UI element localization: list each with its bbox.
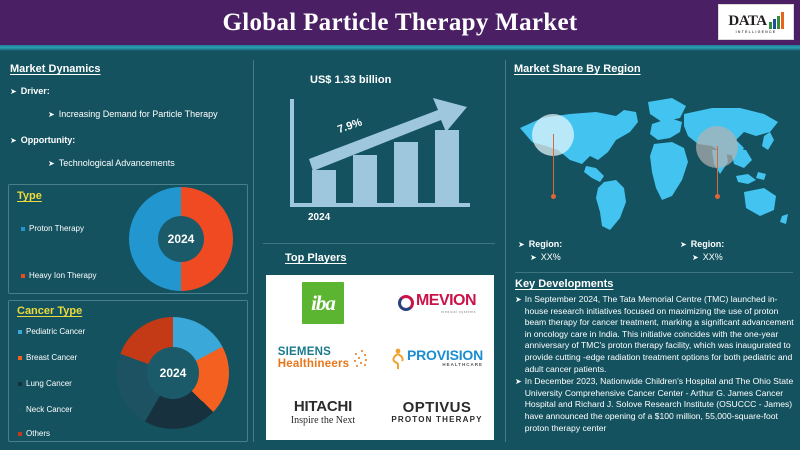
divider-chart-players (263, 243, 495, 244)
region-label-1: Region: (691, 238, 725, 251)
chart-x-label: 2024 (308, 212, 330, 223)
arrow-bullet-icon: ➤ (515, 294, 522, 306)
market-dynamics-section: Market Dynamics ➤ Driver: ➤ Increasing D… (10, 63, 248, 170)
logo-siemens-healthineers[interactable]: SIEMENS Healthineers (266, 330, 380, 385)
arrow-bullet-icon: ➤ (10, 85, 17, 98)
logo-siemens-sub: Healthineers (278, 358, 349, 370)
logo-hitachi-sub: Inspire the Next (291, 415, 355, 427)
map-pin-dot-north-america (551, 194, 556, 199)
legend-swatch-icon (21, 227, 25, 231)
driver-label: Driver: (21, 85, 50, 98)
arrow-bullet-icon: ➤ (10, 134, 17, 147)
top-players-logo-grid: iba MEVION medical systems SIEMENS Healt… (266, 275, 494, 440)
region-label-row-0: ➤ Region: (518, 238, 562, 251)
opportunity-label-row: ➤ Opportunity: (10, 134, 248, 147)
brand-logo: DATA INTELLIGENCE (718, 4, 794, 40)
logo-optivus-sub: PROTON THERAPY (391, 415, 482, 425)
chart-bar-0 (312, 170, 336, 203)
cancer-legend-item-3: Neck Cancer (18, 405, 72, 414)
driver-value: Increasing Demand for Particle Therapy (59, 108, 218, 121)
region-value-row-1: ➤ XX% (680, 251, 724, 264)
divider-center-right (505, 60, 506, 442)
iba-logo-tile: iba (302, 282, 344, 324)
cancer-type-heading: Cancer Type (17, 305, 82, 317)
opportunity-value-row: ➤ Technological Advancements (48, 157, 248, 170)
cancer-legend-item-2: Lung Cancer (18, 379, 72, 388)
cancer-legend-label-0: Pediatric Cancer (26, 327, 85, 336)
driver-value-row: ➤ Increasing Demand for Particle Therapy (48, 108, 248, 121)
opportunity-label: Opportunity: (21, 134, 76, 147)
market-share-heading: Market Share By Region (514, 63, 794, 75)
logo-optivus[interactable]: OPTIVUS PROTON THERAPY (380, 385, 494, 440)
cancer-type-donut-year: 2024 (160, 366, 187, 380)
legend-swatch-icon (18, 408, 22, 412)
type-donut-center: 2024 (158, 216, 204, 262)
siemens-dots-icon (352, 349, 368, 367)
world-map-icon (512, 88, 796, 238)
type-legend-label-1: Heavy Ion Therapy (29, 271, 96, 280)
logo-optivus-text: OPTIVUS (391, 400, 482, 415)
logo-mevion[interactable]: MEVION medical systems (380, 275, 494, 330)
arrow-bullet-icon: ➤ (518, 238, 525, 251)
key-development-text-0: In September 2024, The Tata Memorial Cen… (525, 294, 798, 375)
market-dynamics-heading: Market Dynamics (10, 63, 248, 75)
region-callout-1: ➤ Region: ➤ XX% (680, 238, 724, 264)
driver-label-row: ➤ Driver: (10, 85, 248, 98)
chart-bar-3 (435, 130, 459, 203)
arrow-bullet-icon: ➤ (680, 238, 687, 251)
chart-bar-1 (353, 155, 377, 203)
top-players-section: Top Players (263, 252, 498, 264)
legend-swatch-icon (18, 356, 22, 360)
map-pin-line-north-america (553, 134, 554, 196)
logo-iba[interactable]: iba (266, 275, 380, 330)
legend-swatch-icon (18, 382, 22, 386)
type-legend-label-0: Proton Therapy (29, 224, 84, 233)
region-label-row-1: ➤ Region: (680, 238, 724, 251)
key-developments-heading: Key Developments (515, 278, 798, 290)
logo-hitachi[interactable]: HITACHI Inspire the Next (266, 385, 380, 440)
type-heading: Type (17, 190, 42, 202)
legend-swatch-icon (21, 274, 25, 278)
legend-swatch-icon (18, 432, 22, 436)
arrow-bullet-icon: ➤ (515, 376, 522, 388)
bar-chart-icon (769, 12, 784, 29)
region-value-row-0: ➤ XX% (518, 251, 562, 264)
type-panel: Type Proton Therapy Heavy Ion Therapy 20… (8, 184, 248, 294)
growth-chart-value-label: US$ 1.33 billion (310, 74, 391, 86)
chart-cagr-label: 7.9% (336, 116, 364, 136)
growth-arrow-icon (258, 62, 498, 242)
world-map (512, 88, 796, 238)
region-value-0: XX% (541, 251, 561, 264)
cancer-legend-item-1: Breast Cancer (18, 353, 77, 362)
growth-chart-section: US$ 1.33 billion 7.9% 2024 (258, 62, 498, 242)
chart-y-axis (290, 99, 294, 207)
opportunity-value: Technological Advancements (59, 157, 175, 170)
key-developments-section: Key Developments ➤ In September 2024, Th… (515, 278, 798, 435)
key-development-text-1: In December 2023, Nationwide Children's … (525, 376, 798, 434)
region-value-1: XX% (703, 251, 723, 264)
type-legend-item-0: Proton Therapy (21, 224, 84, 233)
map-pin-line-asia (717, 146, 718, 196)
chart-x-axis (290, 203, 470, 207)
cancer-legend-label-1: Breast Cancer (26, 353, 77, 362)
logo-iba-text: iba (311, 293, 335, 313)
header-bar: Global Particle Therapy Market (0, 0, 800, 45)
divider-left-center (253, 60, 254, 442)
cancer-type-donut-center: 2024 (147, 347, 199, 399)
brand-logo-subtitle: INTELLIGENCE (736, 30, 777, 34)
key-development-item-1: ➤ In December 2023, Nationwide Children'… (515, 376, 798, 434)
arrow-bullet-icon: ➤ (692, 251, 699, 264)
region-callout-0: ➤ Region: ➤ XX% (518, 238, 562, 264)
logo-mevion-sub: medical systems (416, 310, 476, 314)
mevion-swirl-icon (398, 295, 414, 311)
logo-hitachi-text: HITACHI (291, 399, 355, 415)
cancer-legend-label-2: Lung Cancer (26, 379, 72, 388)
arrow-bullet-icon: ➤ (48, 157, 55, 170)
chart-bar-2 (394, 142, 418, 203)
cancer-legend-label-3: Neck Cancer (26, 405, 72, 414)
header-accent-strip (0, 45, 800, 51)
region-label-0: Region: (529, 238, 563, 251)
map-pin-dot-asia (715, 194, 720, 199)
market-share-section: Market Share By Region (514, 63, 794, 75)
divider-map-keydev (515, 272, 793, 273)
type-legend-item-1: Heavy Ion Therapy (21, 271, 96, 280)
type-donut-year: 2024 (168, 232, 195, 246)
infographic-page: Global Particle Therapy Market DATA INTE… (0, 0, 800, 450)
cancer-type-panel: Cancer Type Pediatric Cancer Breast Canc… (8, 300, 248, 442)
cancer-legend-item-4: Others (18, 429, 50, 438)
top-players-heading: Top Players (285, 252, 498, 264)
cancer-legend-label-4: Others (26, 429, 50, 438)
key-development-item-0: ➤ In September 2024, The Tata Memorial C… (515, 294, 798, 375)
arrow-bullet-icon: ➤ (48, 108, 55, 121)
logo-provision-text: PROVISION (407, 349, 483, 362)
page-title: Global Particle Therapy Market (222, 9, 577, 37)
logo-mevion-text: MEVION (416, 292, 476, 309)
legend-swatch-icon (18, 330, 22, 334)
arrow-bullet-icon: ➤ (530, 251, 537, 264)
brand-logo-word: DATA (728, 13, 766, 29)
logo-provision-healthcare[interactable]: PROVISION HEALTHCARE (380, 330, 494, 385)
cancer-legend-item-0: Pediatric Cancer (18, 327, 85, 336)
provision-figure-icon (391, 348, 405, 368)
logo-siemens-text: SIEMENS (278, 346, 349, 358)
